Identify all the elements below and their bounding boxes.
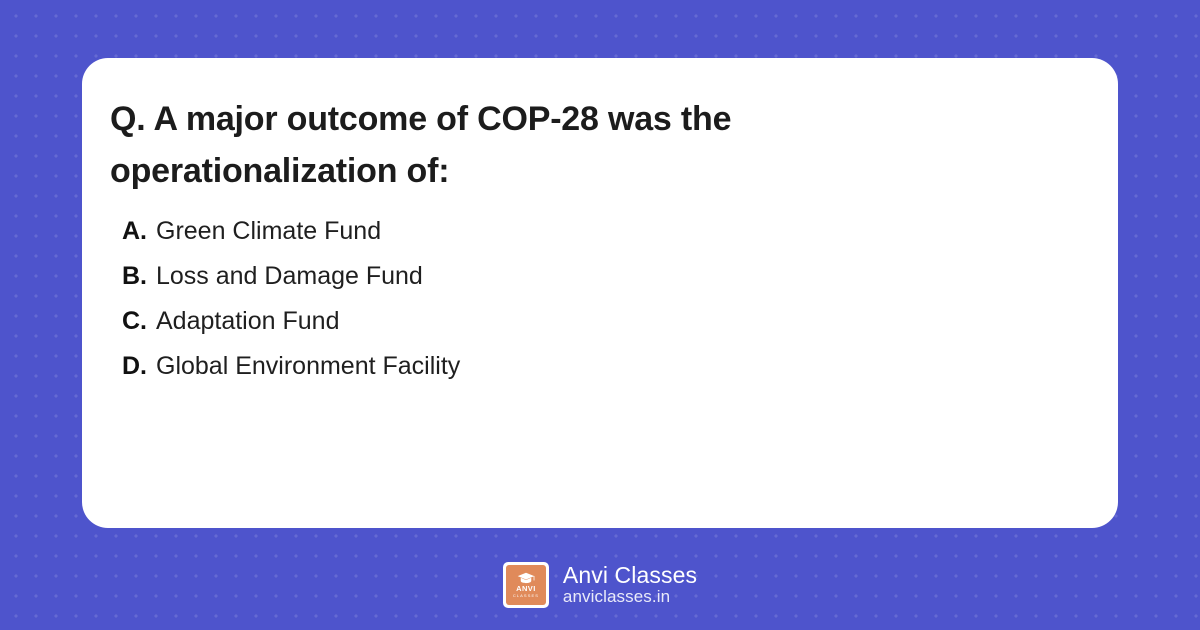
option-a[interactable]: A. Green Climate Fund <box>122 219 1078 244</box>
option-b-text: Loss and Damage Fund <box>156 264 423 289</box>
option-c-letter: C. <box>122 309 147 334</box>
brand-logo-tile: ANVI CLASSES <box>506 565 546 605</box>
brand-logo-word: ANVI <box>516 585 536 593</box>
option-d[interactable]: D. Global Environment Facility <box>122 354 1078 379</box>
quiz-card: Q. A major outcome of COP-28 was the ope… <box>82 58 1118 528</box>
option-a-letter: A. <box>122 219 147 244</box>
option-b-letter: B. <box>122 264 147 289</box>
quiz-slide: Q. A major outcome of COP-28 was the ope… <box>0 0 1200 630</box>
option-d-text: Global Environment Facility <box>156 354 460 379</box>
options-list: A. Green Climate Fund B. Loss and Damage… <box>110 219 1078 379</box>
brand-name: Anvi Classes <box>563 563 697 588</box>
brand-url[interactable]: anviclasses.in <box>563 588 697 606</box>
footer-branding: ANVI CLASSES Anvi Classes anviclasses.in <box>0 562 1200 608</box>
option-c-text: Adaptation Fund <box>156 309 339 334</box>
option-c[interactable]: C. Adaptation Fund <box>122 309 1078 334</box>
brand-text: Anvi Classes anviclasses.in <box>563 563 697 606</box>
question-text: Q. A major outcome of COP-28 was the ope… <box>110 94 870 197</box>
option-d-letter: D. <box>122 354 147 379</box>
graduation-cap-icon <box>517 572 535 584</box>
brand-logo: ANVI CLASSES <box>503 562 549 608</box>
option-a-text: Green Climate Fund <box>156 219 381 244</box>
brand-logo-sub: CLASSES <box>513 594 539 598</box>
option-b[interactable]: B. Loss and Damage Fund <box>122 264 1078 289</box>
